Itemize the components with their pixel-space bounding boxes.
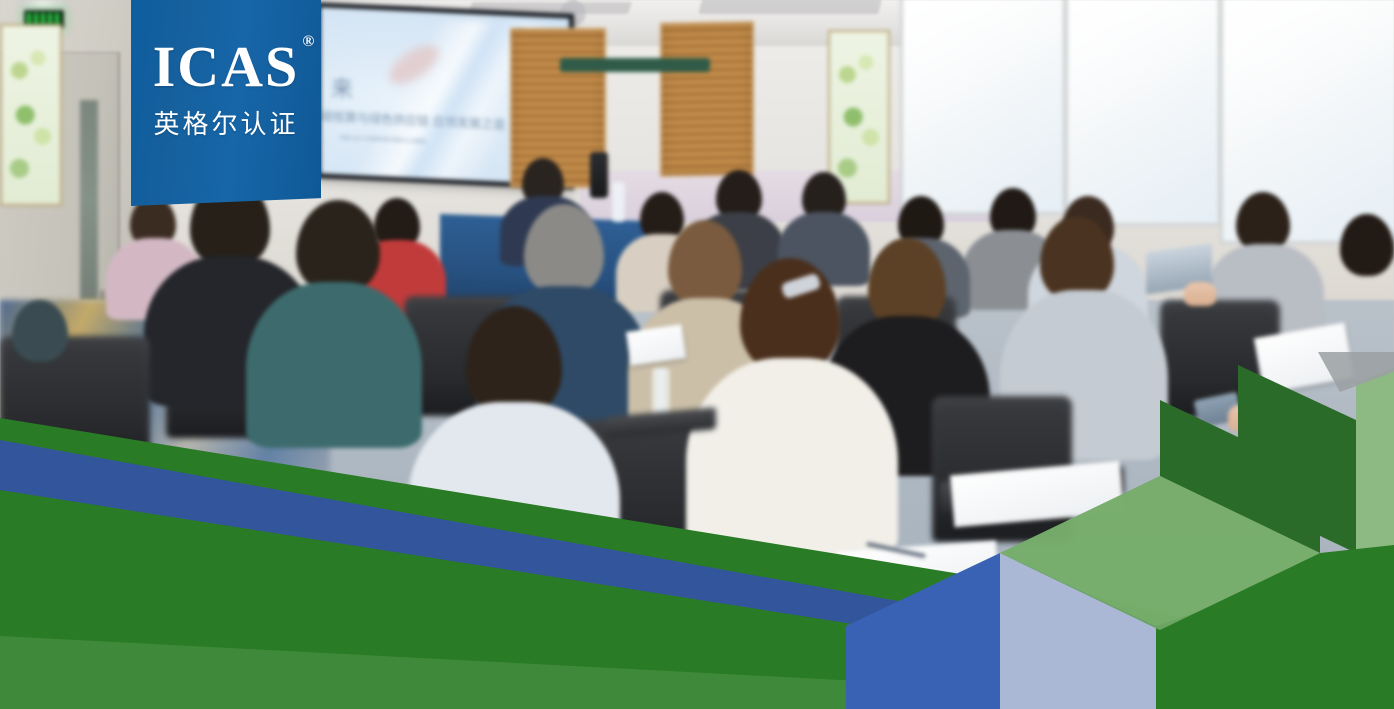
attendee-body bbox=[246, 282, 422, 448]
window bbox=[1065, 0, 1221, 226]
attendee-head bbox=[1340, 214, 1394, 276]
hand bbox=[1184, 282, 1216, 306]
attendee-head bbox=[12, 300, 68, 362]
slide-title: 来 bbox=[331, 71, 353, 104]
registered-mark-icon: ® bbox=[302, 34, 316, 50]
icas-chinese-name: 英格尔认证 bbox=[131, 104, 321, 141]
door-glass-panel bbox=[80, 100, 98, 300]
event-banner: ICAS 来 碳核算与绿色供应链 应领发展之道 中国认证认可监督管理 英格尔认证… bbox=[0, 0, 1394, 709]
icas-logo-lockup: ICAS ® 英格尔认证 bbox=[131, 38, 321, 141]
attendee-body bbox=[408, 402, 620, 592]
window bbox=[900, 0, 1066, 215]
icas-wordmark: ICAS ® bbox=[153, 38, 300, 96]
attendee-head bbox=[1236, 192, 1290, 252]
hand bbox=[1228, 404, 1266, 432]
microphone bbox=[590, 152, 608, 198]
window-blinds bbox=[660, 21, 754, 177]
document-paper bbox=[836, 540, 999, 603]
wall-artwork bbox=[0, 24, 62, 206]
icas-wordmark-text: ICAS bbox=[153, 34, 300, 99]
icas-logo-panel: ICAS ® 英格尔认证 bbox=[131, 0, 321, 206]
water-bottle bbox=[612, 182, 625, 222]
window-glare bbox=[903, 0, 1063, 212]
wall-shelf bbox=[560, 58, 710, 72]
attendee-body bbox=[686, 358, 898, 558]
ceiling-slot bbox=[698, 0, 881, 14]
window-glare bbox=[1068, 0, 1218, 223]
